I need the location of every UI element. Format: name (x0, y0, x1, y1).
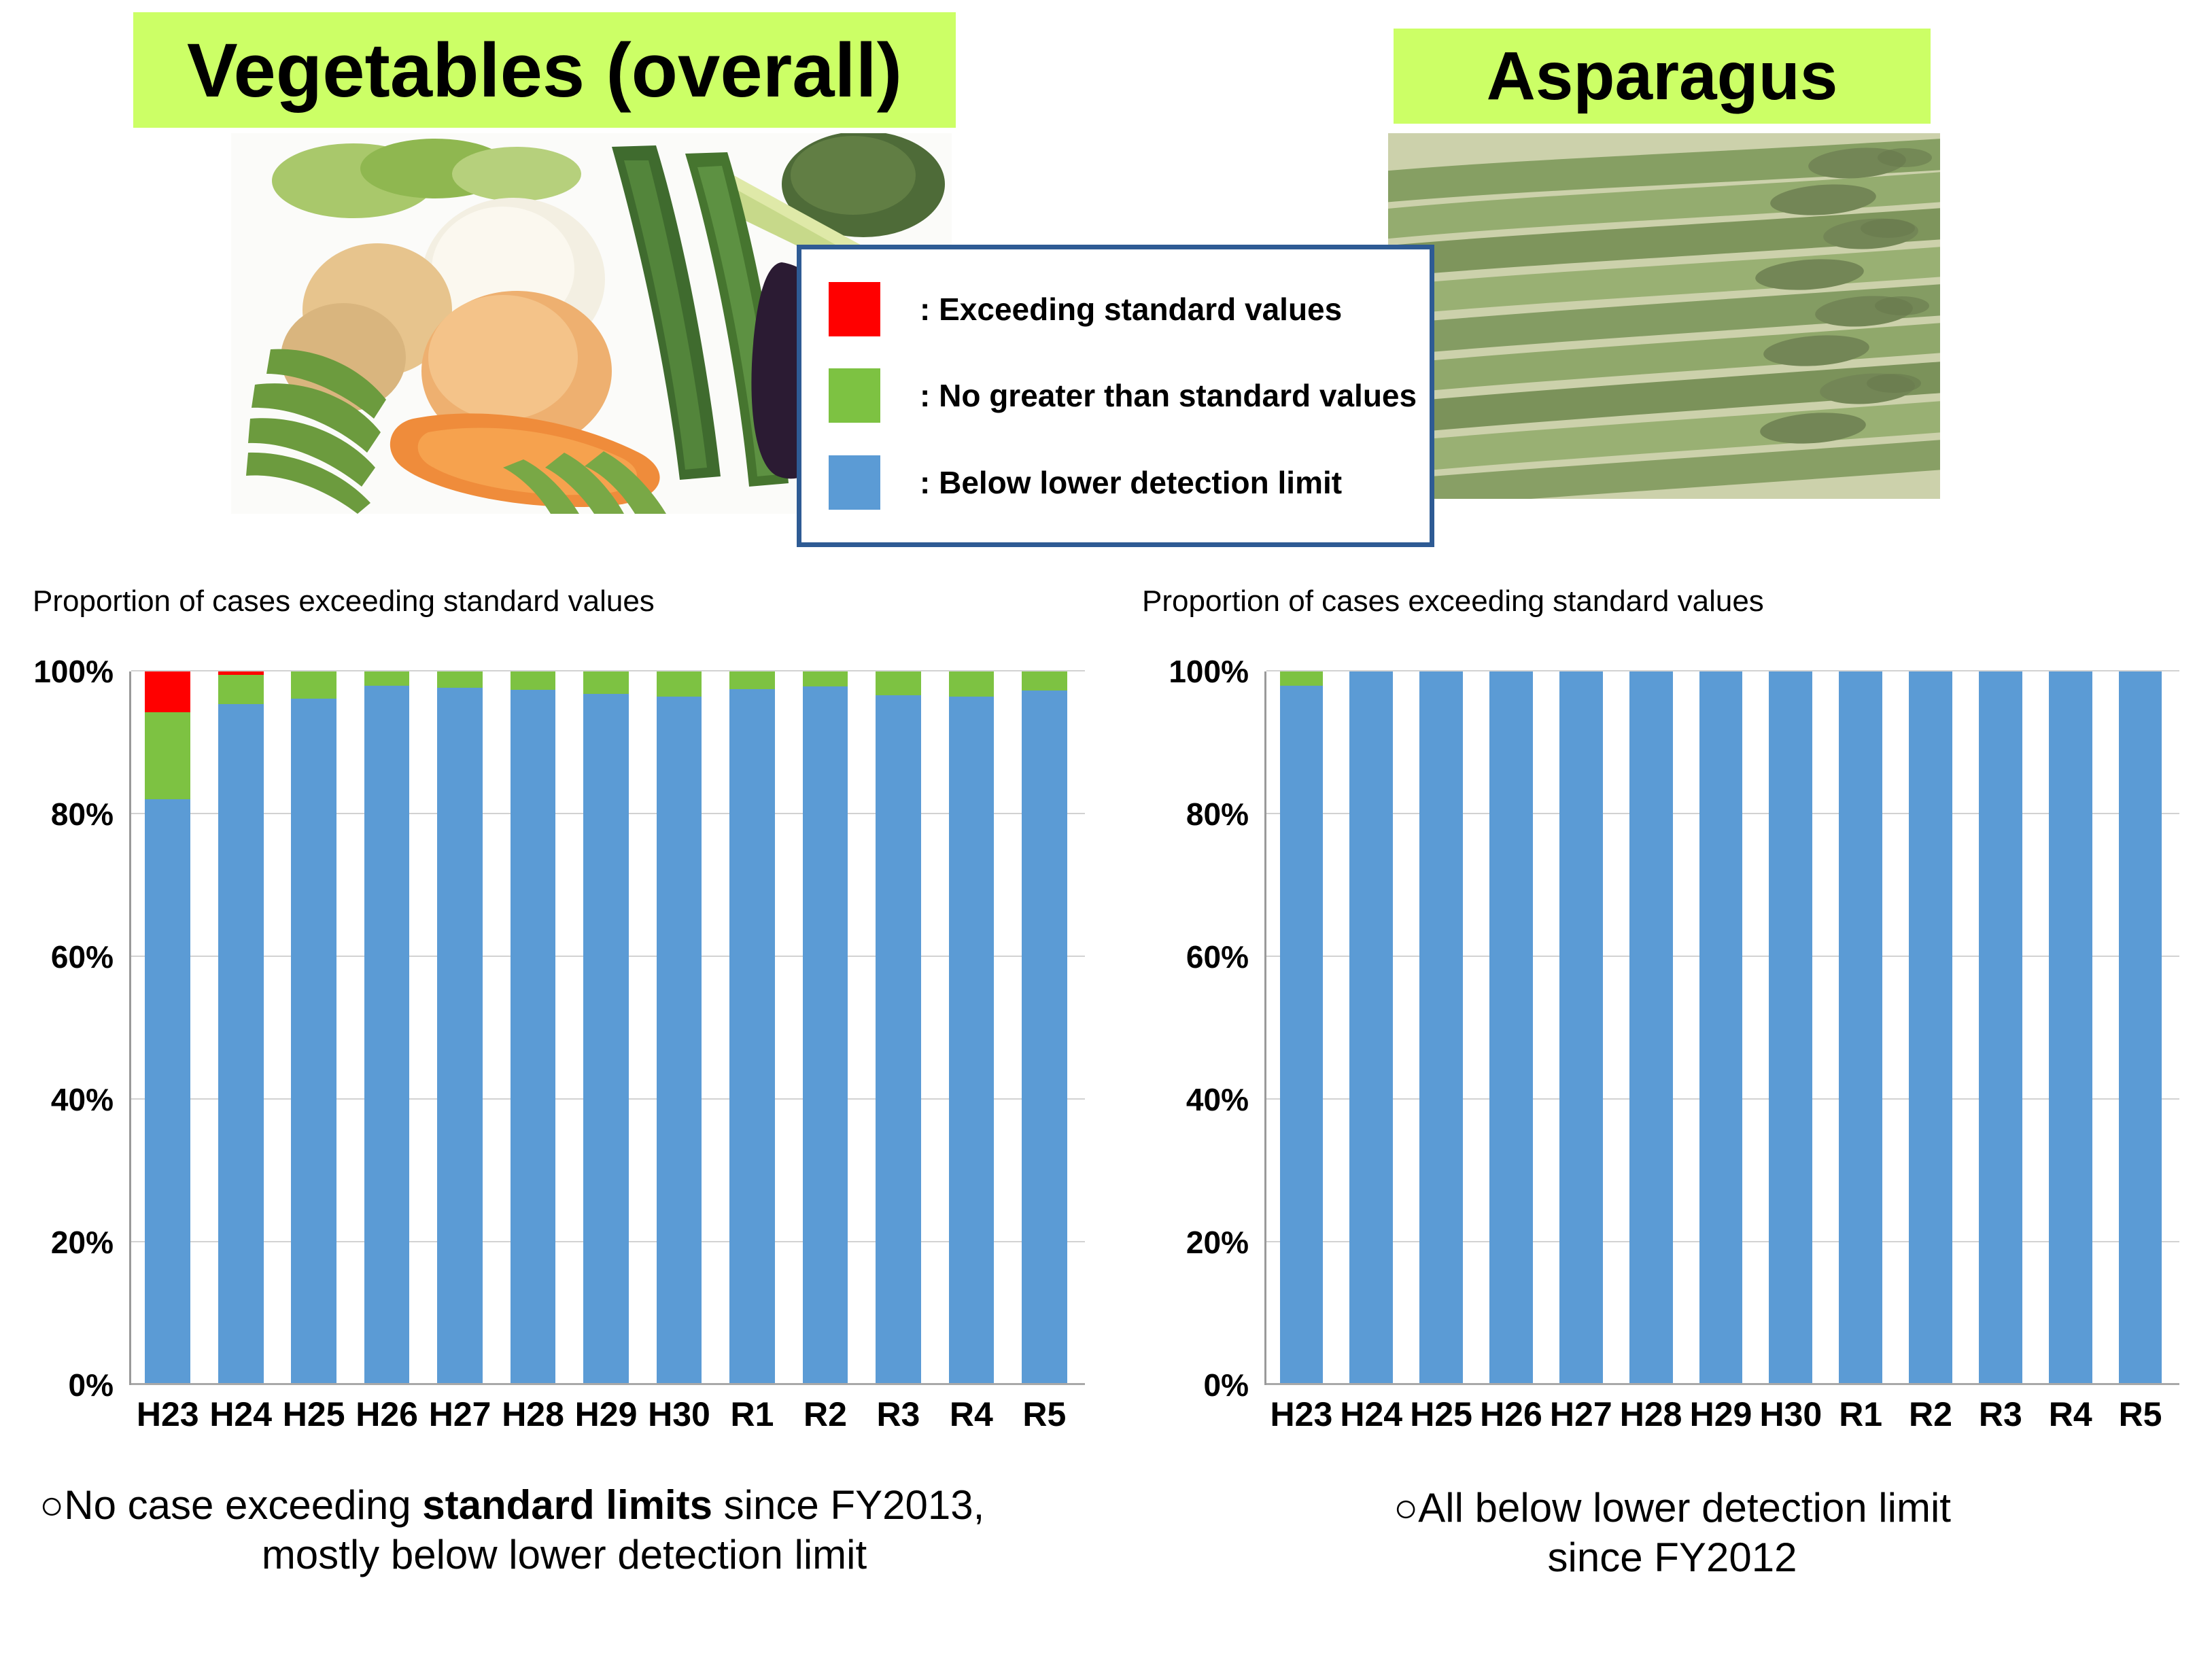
vegetables-bar-segment (803, 671, 848, 686)
legend-swatch-exceeding (829, 282, 880, 336)
vegetables-x-label: R4 (935, 1395, 1007, 1434)
asparagus-bar-column (1476, 671, 1546, 1385)
asparagus-title-band: Asparagus (1394, 29, 1931, 124)
vegetables-bar-column (496, 671, 569, 1385)
asparagus-x-label: R4 (2035, 1395, 2105, 1434)
asparagus-stacked-bar (1489, 671, 1533, 1385)
vegetables-title-band: Vegetables (overall) (133, 12, 956, 128)
vegetables-bar-column (862, 671, 935, 1385)
vegetables-bar-segment (1022, 690, 1067, 1385)
asparagus-stacked-bar (1280, 671, 1324, 1385)
asparagus-x-axis-labels: H23H24H25H26H27H28H29H30R1R2R3R4R5 (1266, 1395, 2175, 1434)
vegetables-bar-column (789, 671, 861, 1385)
vegetables-title-text: Vegetables (overall) (187, 27, 902, 114)
legend-box: : Exceeding standard values : No greater… (797, 245, 1434, 547)
vegetables-x-axis-labels: H23H24H25H26H27H28H29H30R1R2R3R4R5 (131, 1395, 1081, 1434)
asparagus-bar-segment (1489, 671, 1533, 1385)
asparagus-y-tick-label: 0% (1204, 1367, 1249, 1403)
vegetables-x-label: H24 (204, 1395, 277, 1434)
legend-item-no-greater: : No greater than standard values (829, 364, 1430, 427)
vegetables-x-label: R2 (789, 1395, 861, 1434)
vegetables-stacked-bar (729, 671, 775, 1385)
vegetables-chart: Proportion of cases exceeding standard v… (0, 584, 1128, 1441)
vegetables-bar-segment (949, 697, 995, 1385)
vegetables-bar-segment (437, 688, 483, 1385)
vegetables-chart-subtitle: Proportion of cases exceeding standard v… (33, 584, 655, 618)
vegetables-bar-column (131, 671, 204, 1385)
vegetables-y-tick-label: 20% (51, 1224, 114, 1261)
asparagus-bar-column (2035, 671, 2105, 1385)
asparagus-bar-column (1686, 671, 1756, 1385)
vegetables-x-label: H30 (642, 1395, 715, 1434)
vegetables-x-label: H29 (570, 1395, 642, 1434)
asparagus-plot-area: 0%20%40%60%80%100% H23H24H25H26H27H28H29… (1264, 671, 2175, 1385)
asparagus-bar-segment (1769, 671, 1812, 1385)
asparagus-bar-column (1896, 671, 1966, 1385)
asparagus-bar-segment (1629, 671, 1673, 1385)
vegetables-bar-segment (145, 712, 190, 799)
asparagus-stacked-bar (2049, 671, 2092, 1385)
asparagus-bar-column (2105, 671, 2175, 1385)
vegetables-stacked-bar (218, 671, 264, 1385)
vegetables-stacked-bar (364, 671, 410, 1385)
asparagus-bar-segment (1349, 671, 1393, 1385)
vegetables-bar-segment (583, 694, 629, 1385)
vegetables-y-tick-label: 0% (69, 1367, 114, 1403)
asparagus-bar-segment (1979, 671, 2022, 1385)
legend-label-no-greater: : No greater than standard values (920, 377, 1417, 414)
vegetables-plot-area: 0%20%40%60%80%100% H23H24H25H26H27H28H29… (129, 671, 1081, 1385)
asparagus-y-tick-label: 20% (1186, 1224, 1249, 1261)
asparagus-stacked-bar (1769, 671, 1812, 1385)
vegetables-stacked-bar (803, 671, 848, 1385)
vegetables-bar-column (204, 671, 277, 1385)
vegetables-bar-column (350, 671, 423, 1385)
vegetables-x-label: R5 (1008, 1395, 1081, 1434)
vegetables-x-label: R3 (862, 1395, 935, 1434)
vegetables-stacked-bar (291, 671, 336, 1385)
vegetables-stacked-bar (583, 671, 629, 1385)
asparagus-x-label: H30 (1756, 1395, 1826, 1434)
asparagus-bar-segment (1280, 671, 1324, 686)
asparagus-x-label: R3 (1965, 1395, 2035, 1434)
vegetables-bar-segment (291, 699, 336, 1385)
vegetables-bar-segment (145, 799, 190, 1385)
vegetables-bar-segment (803, 686, 848, 1385)
asparagus-bar-column (1756, 671, 1826, 1385)
asparagus-bars (1266, 671, 2175, 1385)
vegetables-bar-segment (729, 671, 775, 689)
vegetables-stacked-bar (511, 671, 556, 1385)
asparagus-bar-segment (1699, 671, 1743, 1385)
asparagus-stacked-bar (1909, 671, 1952, 1385)
vegetables-stacked-bar (949, 671, 995, 1385)
asparagus-stacked-bar (2119, 671, 2162, 1385)
asparagus-bar-column (1406, 671, 1476, 1385)
vegetables-stacked-bar (437, 671, 483, 1385)
asparagus-stacked-bar (1559, 671, 1603, 1385)
asparagus-x-label: H27 (1546, 1395, 1616, 1434)
asparagus-bar-segment (1559, 671, 1603, 1385)
vegetables-bar-segment (291, 671, 336, 699)
asparagus-bar-column (1616, 671, 1686, 1385)
vegetables-bar-segment (218, 704, 264, 1385)
vegetables-bar-segment (145, 671, 190, 712)
legend-label-exceeding: : Exceeding standard values (920, 291, 1342, 328)
asparagus-y-tick-label: 80% (1186, 796, 1249, 833)
legend-swatch-no-greater (829, 368, 880, 423)
asparagus-photo (1388, 133, 1940, 499)
vegetables-y-tick-label: 40% (51, 1081, 114, 1118)
asparagus-y-tick-label: 100% (1169, 653, 1249, 690)
vegetables-x-label: H23 (131, 1395, 204, 1434)
vegetables-x-label: R1 (716, 1395, 789, 1434)
asparagus-x-label: H28 (1616, 1395, 1686, 1434)
vegetables-bar-column (716, 671, 789, 1385)
vegetables-bar-segment (364, 686, 410, 1385)
legend-label-below-limit: : Below lower detection limit (920, 464, 1342, 501)
legend-item-below-limit: : Below lower detection limit (829, 451, 1430, 514)
vegetables-bar-segment (218, 675, 264, 704)
vegetables-bar-segment (511, 690, 556, 1385)
asparagus-x-label: H29 (1686, 1395, 1756, 1434)
vegetables-stacked-bar (1022, 671, 1067, 1385)
vegetables-bar-column (424, 671, 496, 1385)
vegetables-stacked-bar (145, 671, 190, 1385)
asparagus-x-label: H26 (1476, 1395, 1546, 1434)
asparagus-bar-column (1266, 671, 1336, 1385)
asparagus-x-label: R1 (1826, 1395, 1896, 1434)
asparagus-x-label: H24 (1336, 1395, 1406, 1434)
asparagus-y-tick-label: 60% (1186, 939, 1249, 975)
vegetables-bar-segment (583, 671, 629, 694)
vegetables-bar-column (935, 671, 1007, 1385)
vegetables-x-label: H28 (496, 1395, 569, 1434)
vegetables-bar-column (570, 671, 642, 1385)
asparagus-x-label: H23 (1266, 1395, 1336, 1434)
vegetables-caption-line-2: mostly below lower detection limit (20, 1530, 1108, 1579)
vegetables-bar-column (1008, 671, 1081, 1385)
vegetables-x-label: H27 (424, 1395, 496, 1434)
vegetables-bar-segment (1022, 671, 1067, 690)
asparagus-stacked-bar (1629, 671, 1673, 1385)
vegetables-stacked-bar (657, 671, 702, 1385)
asparagus-axis-baseline (1266, 1383, 2179, 1385)
asparagus-caption-line-2: since FY2012 (1156, 1533, 2189, 1582)
vegetables-bar-column (642, 671, 715, 1385)
asparagus-bar-segment (2119, 671, 2162, 1385)
asparagus-bar-column (1546, 671, 1616, 1385)
asparagus-x-label: R2 (1896, 1395, 1966, 1434)
asparagus-stacked-bar (1349, 671, 1393, 1385)
asparagus-caption: ○All below lower detection limit since F… (1156, 1483, 2189, 1582)
vegetables-bar-segment (876, 671, 921, 695)
vegetables-caption-prefix: ○No case exceeding (39, 1482, 422, 1528)
vegetables-x-label: H26 (350, 1395, 423, 1434)
vegetables-bar-column (277, 671, 350, 1385)
asparagus-photo-art (1388, 133, 1940, 499)
asparagus-bar-segment (1280, 686, 1324, 1385)
asparagus-x-label: R5 (2105, 1395, 2175, 1434)
vegetables-caption-suffix: since FY2013, (712, 1482, 984, 1528)
vegetables-y-tick-label: 60% (51, 939, 114, 975)
vegetables-bar-segment (364, 671, 410, 686)
asparagus-stacked-bar (1979, 671, 2022, 1385)
asparagus-stacked-bar (1839, 671, 1882, 1385)
asparagus-chart-subtitle: Proportion of cases exceeding standard v… (1142, 584, 1764, 618)
asparagus-bar-segment (2049, 671, 2092, 1385)
asparagus-bar-column (1336, 671, 1406, 1385)
vegetables-bar-segment (657, 671, 702, 697)
asparagus-chart: Proportion of cases exceeding standard v… (1115, 584, 2212, 1441)
asparagus-title-text: Asparagus (1487, 37, 1838, 116)
vegetables-bars (131, 671, 1081, 1385)
vegetables-bar-segment (729, 689, 775, 1385)
vegetables-y-tick-label: 80% (51, 796, 114, 833)
asparagus-stacked-bar (1699, 671, 1743, 1385)
legend-item-exceeding: : Exceeding standard values (829, 278, 1430, 340)
vegetables-stacked-bar (876, 671, 921, 1385)
asparagus-bar-column (1965, 671, 2035, 1385)
asparagus-bar-segment (1839, 671, 1882, 1385)
vegetables-caption: ○No case exceeding standard limits since… (20, 1480, 1108, 1579)
vegetables-bar-segment (657, 697, 702, 1385)
vegetables-axis-baseline (131, 1383, 1085, 1385)
vegetables-bar-segment (876, 695, 921, 1385)
asparagus-stacked-bar (1419, 671, 1463, 1385)
legend-swatch-below-limit (829, 455, 880, 510)
asparagus-bar-column (1826, 671, 1896, 1385)
vegetables-y-tick-label: 100% (33, 653, 114, 690)
asparagus-bar-segment (1419, 671, 1463, 1385)
vegetables-bar-segment (437, 671, 483, 688)
vegetables-x-label: H25 (277, 1395, 350, 1434)
vegetables-caption-bold: standard limits (422, 1482, 712, 1528)
vegetables-caption-line-1: ○No case exceeding standard limits since… (20, 1480, 1108, 1530)
asparagus-bar-segment (1909, 671, 1952, 1385)
vegetables-bar-segment (511, 671, 556, 690)
vegetables-bar-segment (949, 671, 995, 697)
asparagus-caption-line-1: ○All below lower detection limit (1156, 1483, 2189, 1533)
asparagus-y-tick-label: 40% (1186, 1081, 1249, 1118)
asparagus-x-label: H25 (1406, 1395, 1476, 1434)
